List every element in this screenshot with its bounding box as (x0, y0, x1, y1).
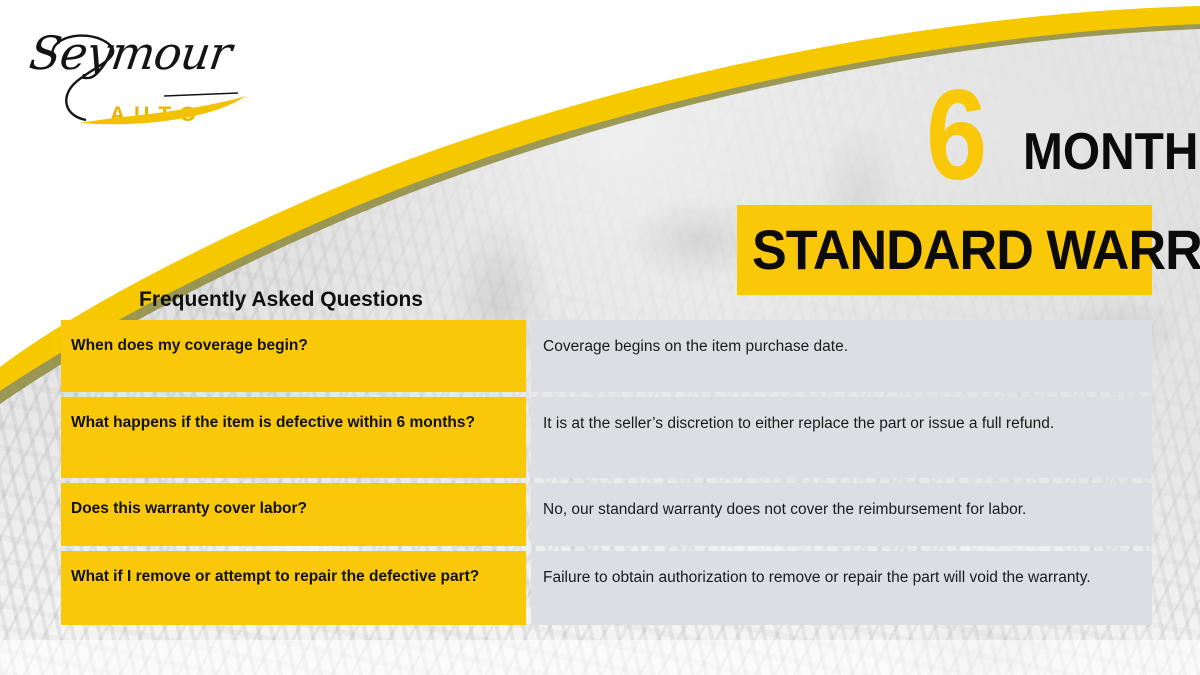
table-row: Does this warranty cover labor? No, our … (61, 483, 1152, 546)
duration-unit: MONTH (1023, 126, 1198, 178)
faq-question: What if I remove or attempt to repair th… (61, 551, 526, 625)
table-row: What if I remove or attempt to repair th… (61, 551, 1152, 625)
faq-table: When does my coverage begin? Coverage be… (61, 320, 1152, 630)
faq-question: Does this warranty cover labor? (61, 483, 526, 546)
logo-swoosh-icon (24, 20, 254, 130)
warranty-banner-title: STANDARD WARRANTY (752, 222, 1200, 278)
seymour-auto-logo: Seymour AUTO (24, 20, 254, 130)
warranty-slide: Seymour AUTO 6 MONTH STANDARD WARRANTY F… (0, 0, 1200, 675)
faq-answer: It is at the seller’s discretion to eith… (531, 397, 1152, 478)
faq-question: When does my coverage begin? (61, 320, 526, 392)
faq-section-title: Frequently Asked Questions (139, 288, 423, 312)
faq-question: What happens if the item is defective wi… (61, 397, 526, 478)
table-row: When does my coverage begin? Coverage be… (61, 320, 1152, 392)
faq-answer: Coverage begins on the item purchase dat… (531, 320, 1152, 392)
table-row: What happens if the item is defective wi… (61, 397, 1152, 478)
faq-answer: No, our standard warranty does not cover… (531, 483, 1152, 546)
duration-number: 6 (926, 72, 986, 200)
faq-answer: Failure to obtain authorization to remov… (531, 551, 1152, 625)
